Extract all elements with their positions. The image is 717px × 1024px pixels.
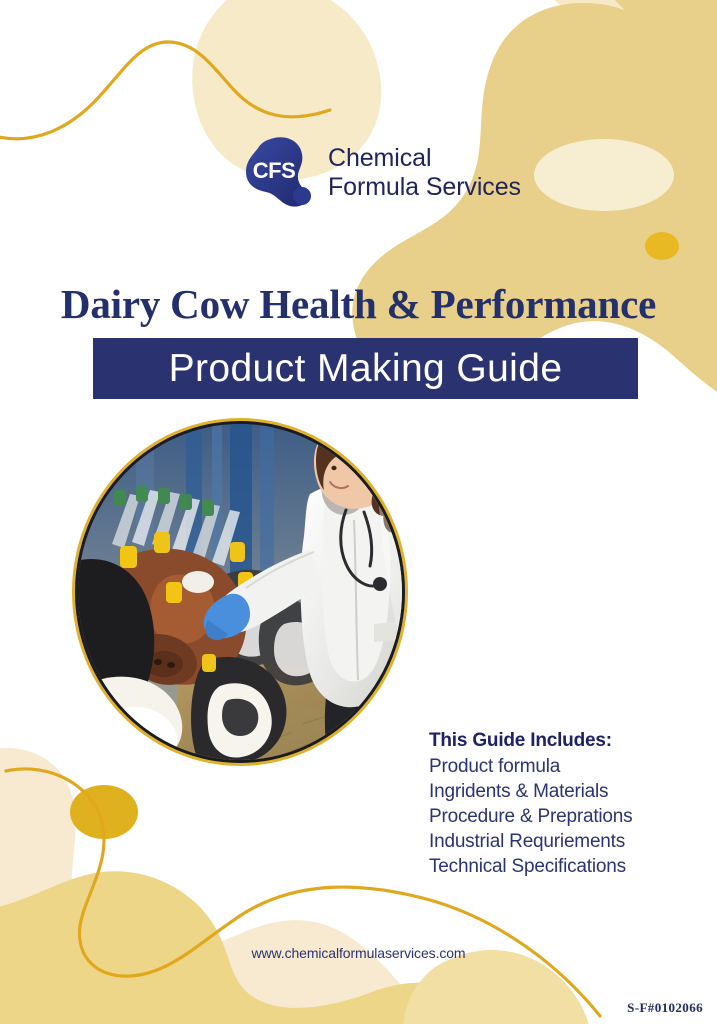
document-code: S-F#0102066 (627, 1000, 703, 1016)
list-item: Product formula (429, 754, 699, 779)
guide-includes-heading: This Guide Includes: (429, 730, 699, 752)
list-item: Industrial Requriements (429, 829, 699, 854)
bottom-left-cream-blob (0, 748, 440, 1024)
page-title: Dairy Cow Health & Performance (0, 283, 717, 326)
brand-name: Chemical Formula Services (328, 144, 521, 203)
list-item: Ingridents & Materials (429, 779, 699, 804)
guide-includes: This Guide Includes: Product formula Ing… (429, 730, 699, 879)
cfs-logo-icon: CFS (244, 136, 316, 210)
top-gold-curve-line (0, 42, 330, 139)
guide-includes-list: Product formula Ingridents & Materials P… (429, 754, 699, 879)
bottom-gold-ellipse (70, 785, 138, 839)
list-item: Procedure & Preprations (429, 804, 699, 829)
top-cream-ellipse (534, 139, 674, 211)
top-right-gold-blob (560, 0, 717, 146)
brand-logo: CFS Chemical Formula Services (244, 136, 521, 210)
bottom-right-cream-blob (403, 950, 591, 1024)
top-right-cream-blob (492, 0, 717, 171)
website-url[interactable]: www.chemicalformulaservices.com (0, 945, 717, 961)
list-item: Technical Specifications (429, 854, 699, 879)
cover-page: CFS Chemical Formula Services Dairy Cow … (0, 0, 717, 1024)
top-gold-dot (645, 232, 679, 260)
title-banner: Product Making Guide (93, 338, 638, 399)
cover-photo (78, 424, 402, 760)
svg-text:CFS: CFS (253, 158, 296, 183)
title-banner-label: Product Making Guide (169, 349, 563, 388)
